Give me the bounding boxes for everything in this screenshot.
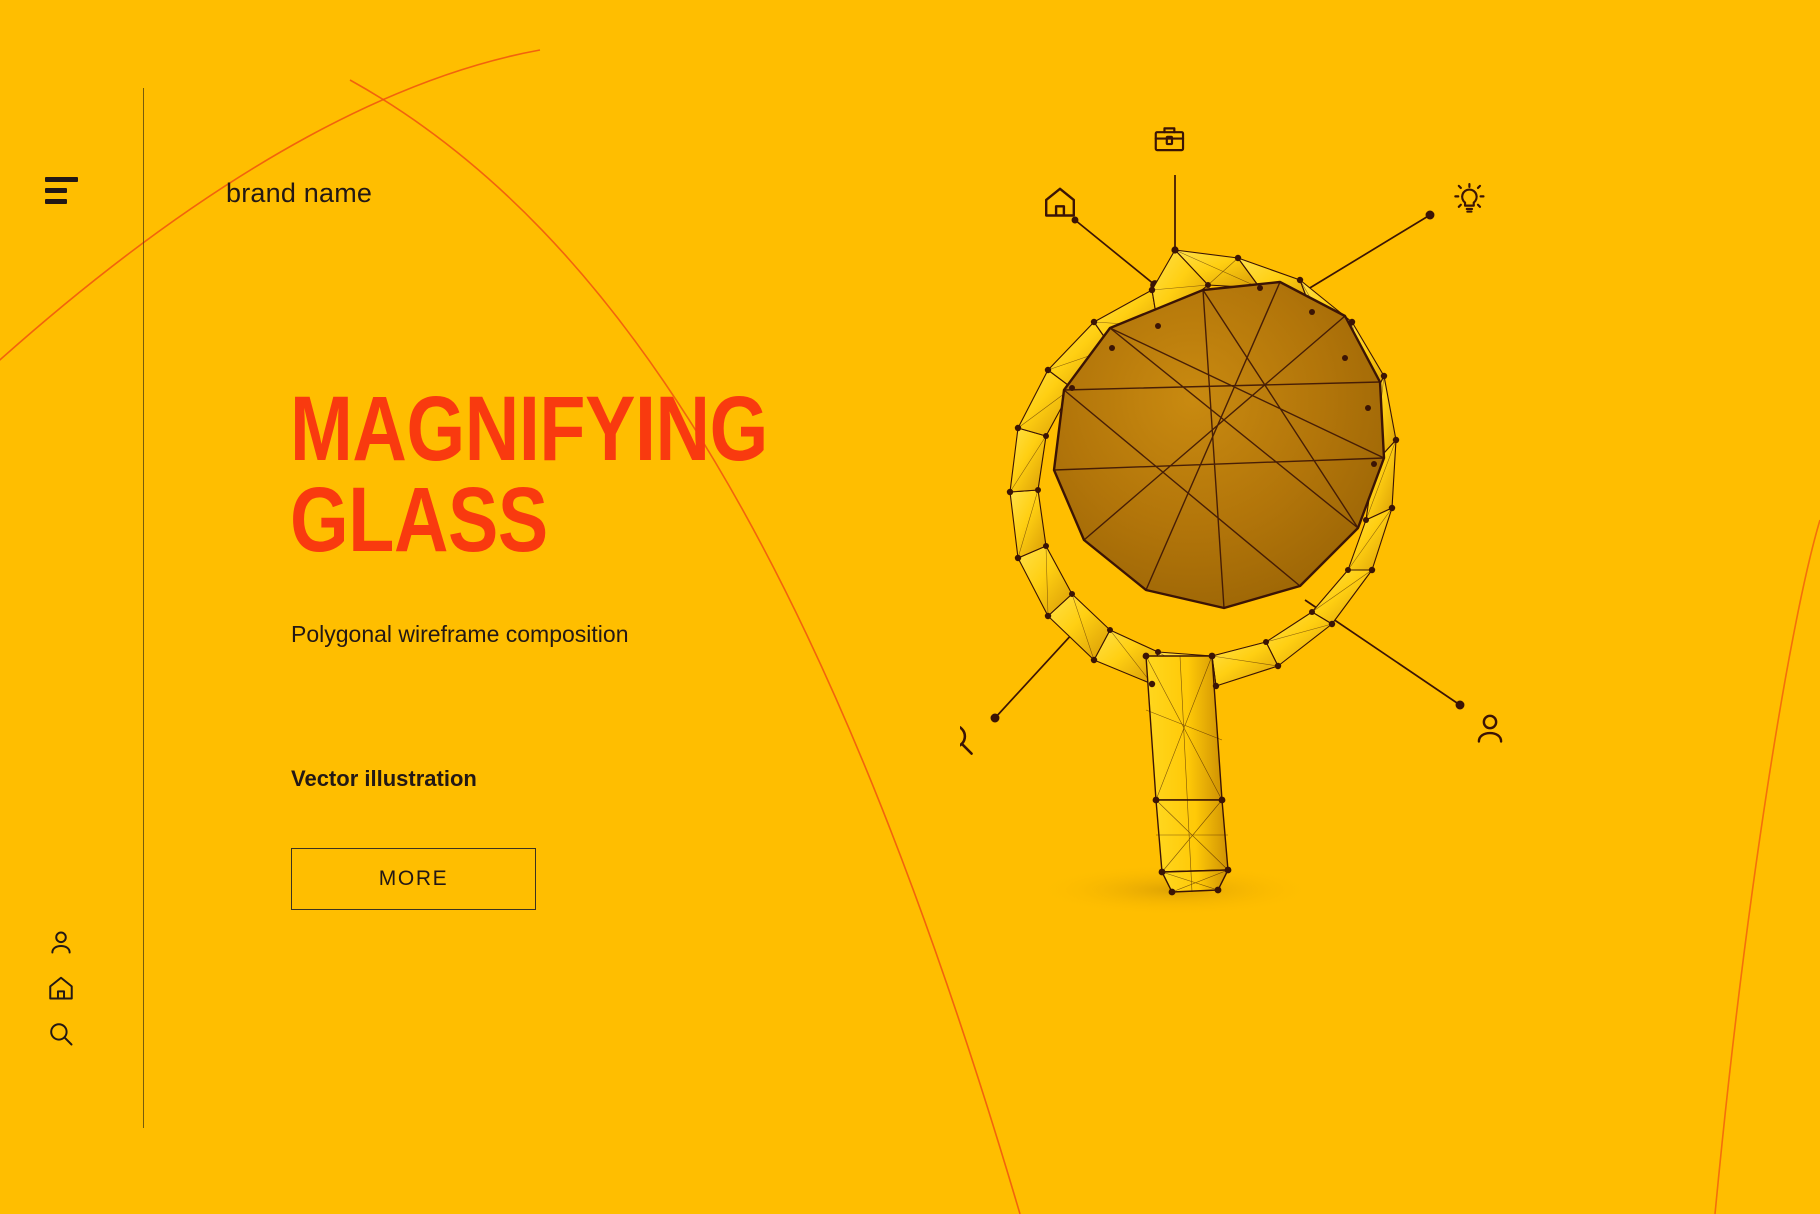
page-title-line-1: MAGNIFYING <box>290 378 768 480</box>
home-icon[interactable] <box>1046 189 1074 216</box>
brand-name[interactable]: brand name <box>226 178 372 209</box>
home-icon[interactable] <box>47 974 75 1002</box>
vertical-divider <box>143 88 144 1128</box>
kicker-label: Vector illustration <box>291 766 477 792</box>
search-icon[interactable] <box>960 726 972 754</box>
briefcase-icon[interactable] <box>1156 128 1183 150</box>
page-title-line-2: GLASS <box>290 475 798 566</box>
page-title: MAGNIFYING GLASS <box>290 384 798 566</box>
hamburger-bar-3 <box>45 199 67 204</box>
hamburger-bar-2 <box>45 188 67 193</box>
more-button[interactable]: MORE <box>291 848 536 910</box>
page-subtitle: Polygonal wireframe composition <box>291 621 629 648</box>
user-icon[interactable] <box>47 928 75 956</box>
icon-rail <box>47 928 75 1048</box>
lightbulb-icon[interactable] <box>1455 184 1483 212</box>
magnifying-glass-illustration <box>960 100 1820 1100</box>
user-icon[interactable] <box>1479 716 1501 742</box>
hamburger-icon[interactable] <box>45 177 81 205</box>
landing-page: brand name MAGNIFYING GLASS Polygonal wi… <box>0 0 1820 1214</box>
hamburger-bar-1 <box>45 177 78 182</box>
search-icon[interactable] <box>47 1020 75 1048</box>
handle-wireframe <box>1146 656 1228 892</box>
